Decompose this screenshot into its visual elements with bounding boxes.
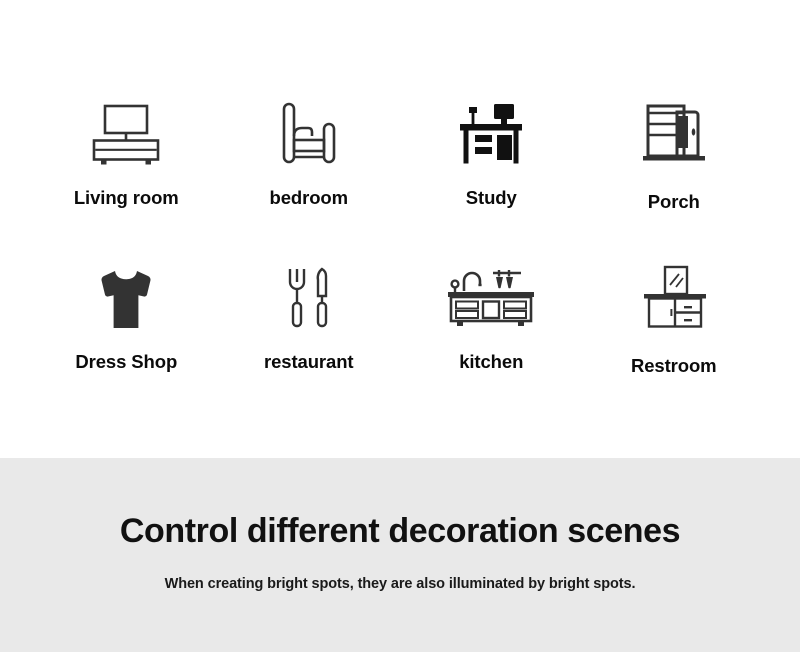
scene-label: bedroom [270, 189, 348, 208]
scene-showcase-page: Living room bedroom [0, 0, 800, 669]
scene-label: Porch [648, 193, 700, 212]
tv-console-icon [90, 96, 162, 172]
scene-label: kitchen [459, 353, 523, 372]
scene-label: Living room [74, 189, 179, 208]
bed-icon [278, 96, 340, 172]
vanity-mirror-icon [638, 260, 710, 340]
scene-item-porch[interactable]: Porch [583, 96, 766, 212]
promo-banner-content: Control different decoration scenes When… [0, 458, 800, 593]
scene-icon-grid: Living room bedroom [0, 0, 800, 458]
promo-banner: Control different decoration scenes When… [0, 458, 800, 652]
banner-title: Control different decoration scenes [0, 458, 800, 550]
banner-footer-spacer [0, 652, 800, 669]
scene-item-living-room[interactable]: Living room [35, 96, 218, 212]
study-desk-icon [456, 96, 526, 172]
scene-label: Restroom [631, 357, 717, 376]
scene-item-kitchen[interactable]: kitchen [400, 260, 583, 376]
tshirt-icon [91, 260, 161, 336]
scene-item-restroom[interactable]: Restroom [583, 260, 766, 376]
banner-subtitle: When creating bright spots, they are als… [0, 550, 800, 593]
shoe-cabinet-icon [641, 96, 707, 172]
kitchen-counter-icon [446, 260, 536, 336]
scene-item-restaurant[interactable]: restaurant [218, 260, 401, 376]
scene-row-2: Dress Shop restaurant [35, 212, 765, 376]
scene-row-1: Living room bedroom [35, 0, 765, 212]
scene-item-study[interactable]: Study [400, 96, 583, 212]
scene-item-dress-shop[interactable]: Dress Shop [35, 260, 218, 376]
fork-knife-icon [283, 260, 335, 336]
scene-label: restaurant [264, 353, 353, 372]
scene-label: Study [466, 189, 517, 208]
scene-label: Dress Shop [75, 353, 177, 372]
scene-item-bedroom[interactable]: bedroom [218, 96, 401, 212]
